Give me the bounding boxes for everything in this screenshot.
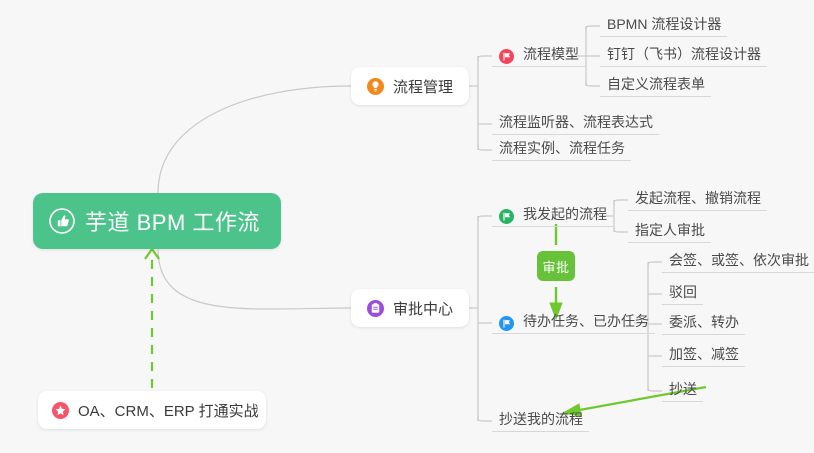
node-label: 会签、或签、依次审批 xyxy=(669,250,809,270)
node-label: 流程实例、流程任务 xyxy=(499,138,625,158)
wire-ac-child-3 xyxy=(478,415,492,421)
wire-init-child-1 xyxy=(614,200,628,206)
bottom-note-card[interactable]: OA、CRM、ERP 打通实战 xyxy=(38,391,266,429)
node-my-initiated[interactable]: 我发起的流程 xyxy=(492,201,613,227)
approval-badge-label: 审批 xyxy=(542,257,569,276)
wire-todo-child-5 xyxy=(648,385,662,391)
mindmap-canvas: 芋道 BPM 工作流 流程管理 流程模型 BPMN 流程设计器 钉钉（飞书 xyxy=(0,0,814,453)
node-add-remove-sign[interactable]: 加签、减签 xyxy=(662,341,745,367)
clipboard-icon xyxy=(367,300,384,317)
node-label: 发起流程、撤销流程 xyxy=(635,188,761,208)
bottom-note-label: OA、CRM、ERP 打通实战 xyxy=(78,400,259,421)
wire-pmodel-child-3 xyxy=(586,80,600,86)
node-label: 我发起的流程 xyxy=(523,204,607,224)
flag-green-icon xyxy=(499,209,514,224)
node-cc-to-me[interactable]: 抄送我的流程 xyxy=(492,406,589,432)
node-assignee-approval[interactable]: 指定人审批 xyxy=(628,217,711,243)
root-node[interactable]: 芋道 BPM 工作流 xyxy=(33,193,281,249)
node-custom-process-form[interactable]: 自定义流程表单 xyxy=(600,71,711,97)
node-process-model[interactable]: 流程模型 xyxy=(492,41,585,67)
branch-approval-center[interactable]: 审批中心 xyxy=(351,289,469,327)
node-label: 流程监听器、流程表达式 xyxy=(499,112,653,132)
approval-badge: 审批 xyxy=(537,251,575,281)
wire-init-child-2 xyxy=(614,226,628,232)
branch-label: 审批中心 xyxy=(393,298,453,319)
lightbulb-icon xyxy=(367,78,384,95)
node-start-cancel[interactable]: 发起流程、撤销流程 xyxy=(628,185,767,211)
wire-root-to-approval-center xyxy=(158,249,351,309)
node-countersign[interactable]: 会签、或签、依次审批 xyxy=(662,247,814,273)
node-cc[interactable]: 抄送 xyxy=(662,376,703,402)
wire-ac-child-1 xyxy=(478,216,492,222)
flag-blue-icon xyxy=(499,316,514,331)
root-label: 芋道 BPM 工作流 xyxy=(85,205,260,237)
wire-pmodel-child-1 xyxy=(586,26,600,32)
node-delegate-transfer[interactable]: 委派、转办 xyxy=(662,309,745,335)
node-bpmn-designer[interactable]: BPMN 流程设计器 xyxy=(600,11,727,37)
node-todo-done-tasks[interactable]: 待办任务、已办任务 xyxy=(492,308,655,334)
wire-pm-child-3 xyxy=(478,144,492,150)
node-label: 委派、转办 xyxy=(669,312,739,332)
node-dingtalk-feishu-designer[interactable]: 钉钉（飞书）流程设计器 xyxy=(600,41,767,67)
node-label: 钉钉（飞书）流程设计器 xyxy=(607,44,761,64)
flag-red-icon xyxy=(499,49,514,64)
node-instance-task[interactable]: 流程实例、流程任务 xyxy=(492,135,631,161)
branch-process-management[interactable]: 流程管理 xyxy=(351,67,469,105)
node-label: BPMN 流程设计器 xyxy=(607,14,721,34)
star-icon xyxy=(52,402,69,419)
wire-pm-child-1 xyxy=(478,56,492,62)
node-listener-expression[interactable]: 流程监听器、流程表达式 xyxy=(492,109,659,135)
wire-todo-child-1 xyxy=(648,262,662,268)
node-label: 加签、减签 xyxy=(669,344,739,364)
node-label: 驳回 xyxy=(669,282,697,302)
wire-root-to-process-management xyxy=(158,86,351,193)
bottom-note-arrow xyxy=(145,249,159,388)
node-label: 抄送我的流程 xyxy=(499,409,583,429)
node-label: 指定人审批 xyxy=(635,220,705,240)
thumbs-up-icon xyxy=(49,208,75,234)
node-reject[interactable]: 驳回 xyxy=(662,279,703,305)
node-label: 流程模型 xyxy=(523,44,579,64)
node-label: 抄送 xyxy=(669,379,697,399)
node-label: 自定义流程表单 xyxy=(607,74,705,94)
branch-label: 流程管理 xyxy=(393,76,453,97)
node-label: 待办任务、已办任务 xyxy=(523,311,649,331)
